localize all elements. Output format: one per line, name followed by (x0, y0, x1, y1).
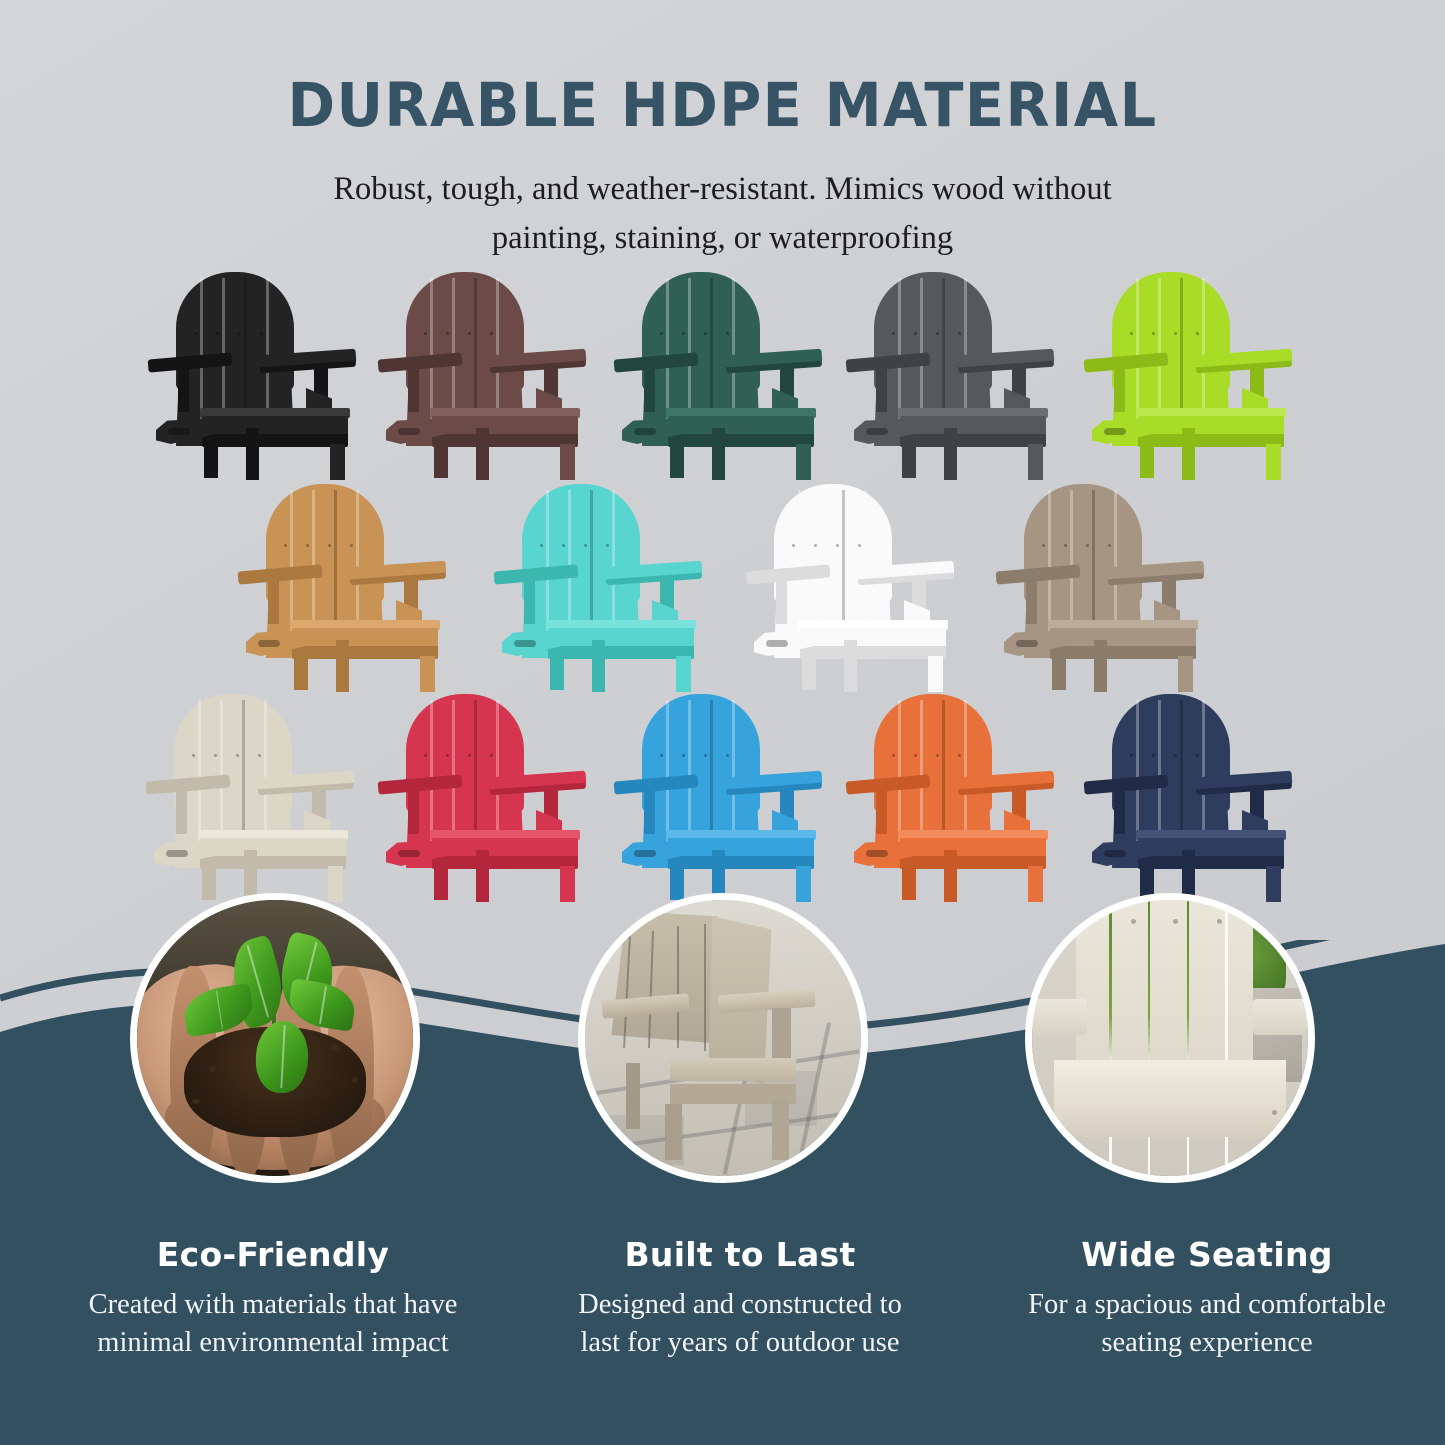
feature-caption-wide-seating: Wide SeatingFor a spacious and comfortab… (972, 1235, 1442, 1362)
chair-swatch-dark-green[interactable] (608, 268, 840, 480)
chair-swatch-black[interactable] (142, 268, 374, 480)
chair-swatch-turquoise[interactable] (488, 480, 720, 692)
feature-description-line-1: For a spacious and comfortable (1028, 1289, 1386, 1320)
chair-swatch-gray[interactable] (840, 268, 1072, 480)
subtitle-line-1: Robust, tough, and weather-resistant. Mi… (333, 171, 1111, 207)
feature-captions: Eco-FriendlyCreated with materials that … (0, 1235, 1445, 1395)
feature-photos (0, 893, 1445, 1223)
feature-description: Designed and constructed tolast for year… (505, 1286, 975, 1362)
page-subtitle: Robust, tough, and weather-resistant. Mi… (213, 165, 1233, 264)
adirondack-chair-graphic (608, 268, 840, 480)
chair-swatch-beige[interactable] (140, 690, 372, 902)
chair-swatch-weathered-wood[interactable] (990, 480, 1222, 692)
feature-description-line-1: Designed and constructed to (578, 1289, 902, 1320)
chair-swatch-red[interactable] (372, 690, 604, 902)
header: DURABLE HDPE MATERIAL Robust, tough, and… (0, 74, 1445, 263)
adirondack-chair-graphic (142, 268, 374, 480)
feature-caption-eco-friendly: Eco-FriendlyCreated with materials that … (38, 1235, 508, 1362)
adirondack-chair-graphic (740, 480, 972, 692)
feature-description: Created with materials that haveminimal … (38, 1286, 508, 1362)
adirondack-chair-graphic (488, 480, 720, 692)
feature-description-line-2: seating experience (1101, 1327, 1312, 1358)
adirondack-chair-graphic (372, 268, 604, 480)
chair-swatch-lime-green[interactable] (1078, 268, 1310, 480)
chair-swatch-white[interactable] (740, 480, 972, 692)
feature-description: For a spacious and comfortableseating ex… (972, 1286, 1442, 1362)
feature-description-line-2: last for years of outdoor use (581, 1327, 900, 1358)
adirondack-chair-graphic (372, 690, 604, 902)
photo-content (137, 900, 413, 1176)
adirondack-chair-graphic (840, 268, 1072, 480)
adirondack-chair-graphic (232, 480, 464, 692)
subtitle-line-2: painting, staining, or waterproofing (492, 220, 953, 256)
adirondack-chair-graphic (140, 690, 372, 902)
chair-swatch-brown[interactable] (372, 268, 604, 480)
adirondack-chair-graphic (1078, 690, 1310, 902)
feature-description-line-2: minimal environmental impact (97, 1327, 448, 1358)
feature-caption-built-to-last: Built to LastDesigned and constructed to… (505, 1235, 975, 1362)
feature-title: Built to Last (505, 1235, 975, 1274)
chair-swatch-teak[interactable] (232, 480, 464, 692)
feature-title: Eco-Friendly (38, 1235, 508, 1274)
feature-title: Wide Seating (972, 1235, 1442, 1274)
chair-swatch-navy[interactable] (1078, 690, 1310, 902)
hands-holding-seedling-photo (130, 893, 420, 1183)
chair-swatch-orange[interactable] (840, 690, 1072, 902)
chair-color-grid (0, 268, 1445, 908)
feature-description-line-1: Created with materials that have (89, 1289, 458, 1320)
adirondack-chair-graphic (840, 690, 1072, 902)
adirondack-chair-graphic (1078, 268, 1310, 480)
adirondack-chair-graphic (990, 480, 1222, 692)
adirondack-chair-graphic (608, 690, 840, 902)
photo-content (1032, 900, 1308, 1176)
chair-swatch-blue[interactable] (608, 690, 840, 902)
beige-adirondack-chair-on-patio-photo (578, 893, 868, 1183)
infographic-canvas: DURABLE HDPE MATERIAL Robust, tough, and… (0, 0, 1445, 1445)
photo-content (585, 900, 861, 1176)
page-title: DURABLE HDPE MATERIAL (43, 74, 1401, 139)
wide-chair-seat-closeup-photo (1025, 893, 1315, 1183)
